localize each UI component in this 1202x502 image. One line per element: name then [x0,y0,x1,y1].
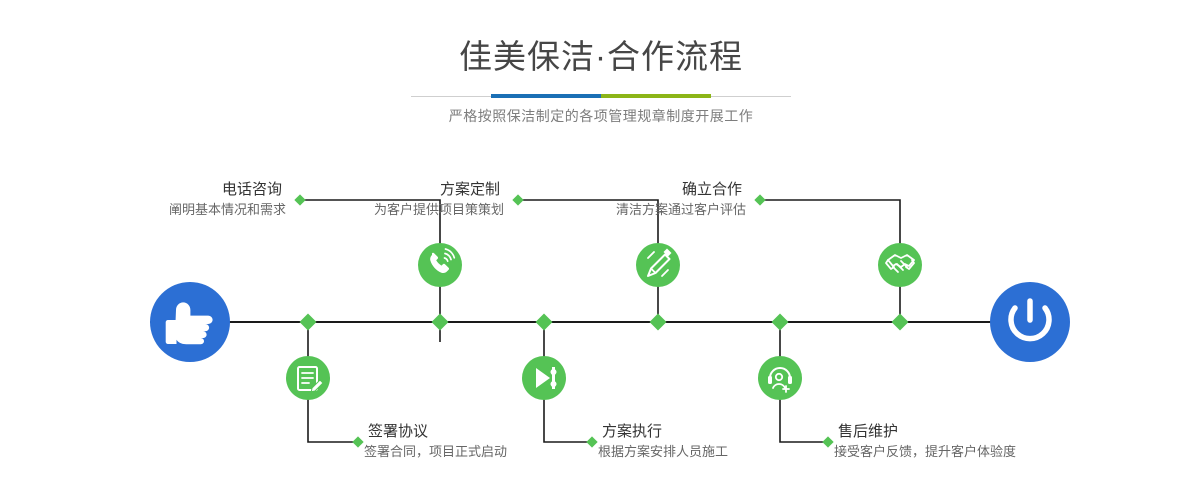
step-label-3: 方案定制 为客户提供项目策策划 [374,180,508,220]
step-label-5: 确立合作 清洁方案通过客户评估 [616,180,750,220]
page-title: 佳美保洁·合作流程 [0,36,1202,78]
divider-segment-green [601,94,711,98]
step-label-desc-6: 接受客户反馈，提升客户体验度 [828,442,1016,462]
timeline-diamond [536,314,553,331]
timeline-diamond [772,314,789,331]
step-label-title-5: 确立合作 [616,180,750,200]
step-node-circle-3 [636,243,680,287]
step-label-1: 电话咨询 阐明基本情况和需求 [169,180,290,220]
label-diamond-step-1 [294,194,305,205]
step-node-5[interactable] [878,243,922,287]
step-label-desc-2: 签署合同，项目正式启动 [358,442,507,462]
page-header: 佳美保洁·合作流程 严格按照保洁制定的各项管理规章制度开展工作 [0,0,1202,140]
step-node-6[interactable] [758,356,802,400]
step-label-2: 签署协议 签署合同，项目正式启动 [358,422,507,462]
step-node-circle-6 [758,356,802,400]
step-label-4: 方案执行 根据方案安排人员施工 [592,422,728,462]
step-node-circle-5 [878,243,922,287]
timeline-diamond [432,314,449,331]
step-node-4[interactable] [522,356,566,400]
label-diamond-step-5 [754,194,765,205]
step-label-title-4: 方案执行 [592,422,728,442]
step-node-1[interactable] [418,243,462,287]
timeline-diamond [300,314,317,331]
step-label-title-6: 售后维护 [828,422,1016,442]
divider-segment-blue [491,94,601,98]
label-diamond-step-3 [512,194,523,205]
timeline-diamond [892,314,909,331]
step-node-2[interactable] [286,356,330,400]
step-label-title-2: 签署协议 [358,422,507,442]
end-node[interactable] [990,282,1070,362]
step-label-title-1: 电话咨询 [169,180,290,200]
step-label-desc-1: 阐明基本情况和需求 [169,200,290,220]
step-node-3[interactable] [636,243,680,287]
timeline-diamond [650,314,667,331]
step-label-desc-3: 为客户提供项目策策划 [374,200,508,220]
step-label-desc-5: 清洁方案通过客户评估 [616,200,750,220]
step-label-desc-4: 根据方案安排人员施工 [592,442,728,462]
start-node[interactable] [150,282,230,362]
process-flow-diagram: 电话咨询 阐明基本情况和需求 签署协议 签署合同，项目正式启动 方案定制 为客户… [0,140,1202,502]
step-label-title-3: 方案定制 [374,180,508,200]
page-subtitle: 严格按照保洁制定的各项管理规章制度开展工作 [0,105,1202,127]
title-divider [411,94,791,98]
step-label-6: 售后维护 接受客户反馈，提升客户体验度 [828,422,1016,462]
